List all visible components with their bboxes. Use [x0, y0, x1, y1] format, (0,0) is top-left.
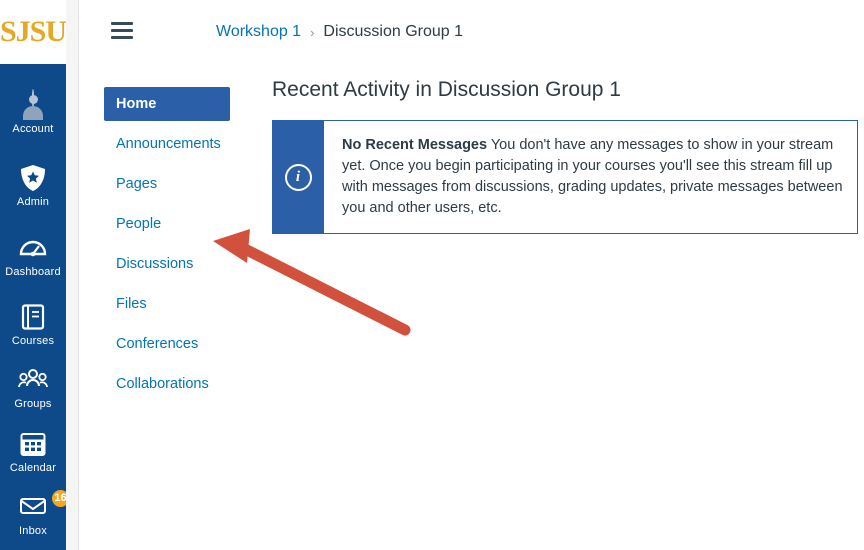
- nav-label-inbox: Inbox: [0, 525, 66, 538]
- nav-label-groups: Groups: [0, 398, 66, 411]
- course-nav-item-files[interactable]: Files: [104, 287, 230, 321]
- nav-label-account: Account: [0, 123, 66, 136]
- breadcrumb-course-link[interactable]: Workshop 1: [216, 23, 301, 41]
- course-nav-item-pages[interactable]: Pages: [104, 167, 230, 201]
- sjsu-logo[interactable]: SJSU: [0, 0, 66, 64]
- course-nav-item-people[interactable]: People: [104, 207, 230, 241]
- main-panel: Recent Activity in Discussion Group 1 i …: [272, 78, 864, 234]
- hamburger-icon[interactable]: [111, 22, 133, 39]
- nav-item-admin[interactable]: Admin: [0, 163, 66, 209]
- gauge-icon: [18, 233, 48, 263]
- global-navigation: SJSU Account Admin: [0, 0, 66, 550]
- canvas-page: SJSU Account Admin: [0, 0, 864, 550]
- breadcrumb-current: Discussion Group 1: [323, 23, 463, 41]
- course-navigation: Home Announcements Pages People Discussi…: [104, 87, 230, 407]
- page-title: Recent Activity in Discussion Group 1: [272, 78, 864, 102]
- info-icon: i: [285, 164, 312, 191]
- breadcrumb-separator-icon: ›: [310, 25, 314, 40]
- nav-item-account[interactable]: Account: [0, 90, 66, 136]
- nav-item-inbox[interactable]: 16 Inbox: [0, 492, 66, 538]
- nav-label-courses: Courses: [0, 335, 66, 348]
- nav-item-groups[interactable]: Groups: [0, 365, 66, 411]
- course-nav-item-discussions[interactable]: Discussions: [104, 247, 230, 281]
- course-nav-item-conferences[interactable]: Conferences: [104, 327, 230, 361]
- nav-item-courses[interactable]: Courses: [0, 302, 66, 348]
- nav-item-dashboard[interactable]: Dashboard: [0, 233, 66, 279]
- nav-label-calendar: Calendar: [0, 462, 66, 475]
- course-nav-item-collaborations[interactable]: Collaborations: [104, 367, 230, 401]
- nav-item-calendar[interactable]: Calendar: [0, 429, 66, 475]
- course-nav-item-announcements[interactable]: Announcements: [104, 127, 230, 161]
- breadcrumb: Workshop 1 › Discussion Group 1: [216, 18, 463, 46]
- no-recent-messages-alert: i No Recent Messages You don't have any …: [272, 120, 858, 234]
- nav-label-dashboard: Dashboard: [0, 266, 66, 279]
- calendar-icon: [18, 429, 48, 459]
- shield-icon: [18, 163, 48, 193]
- nav-label-admin: Admin: [0, 196, 66, 209]
- content-area: Workshop 1 › Discussion Group 1 Home Ann…: [66, 0, 864, 550]
- alert-icon-bar: i: [272, 121, 324, 233]
- alert-text: No Recent Messages You don't have any me…: [324, 121, 857, 233]
- book-icon: [18, 302, 48, 332]
- content-divider: [66, 0, 79, 550]
- avatar-icon: [18, 90, 48, 120]
- people-icon: [18, 365, 48, 395]
- inbox-icon: 16: [18, 492, 48, 522]
- alert-heading: No Recent Messages: [342, 137, 487, 153]
- course-nav-item-home[interactable]: Home: [104, 87, 230, 121]
